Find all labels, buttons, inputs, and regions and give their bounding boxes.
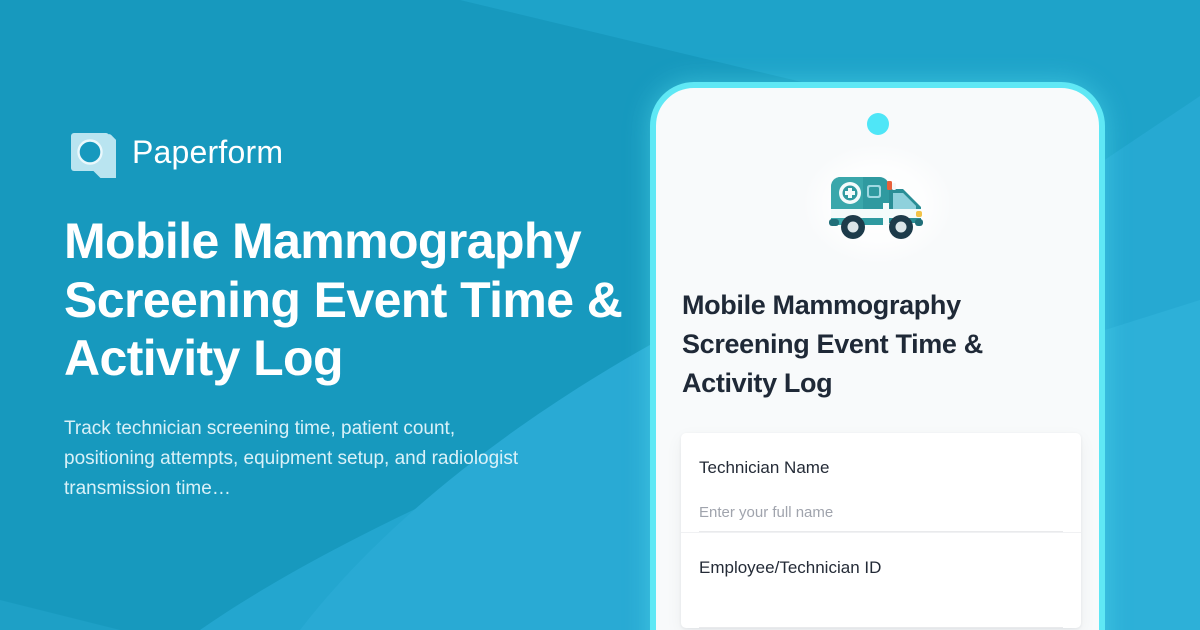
page-title: Mobile Mammography Screening Event Time … (64, 212, 624, 388)
form-card: Technician Name Enter your full name Emp… (681, 433, 1081, 629)
brand-name: Paperform (132, 136, 283, 168)
page-subtitle: Track technician screening time, patient… (64, 414, 544, 504)
form-header-emoji (678, 156, 1077, 252)
field-label: Technician Name (699, 457, 1063, 479)
ambulance-icon (823, 165, 933, 243)
paperform-star-logo-icon (64, 126, 116, 178)
form-title: Mobile Mammography Screening Event Time … (678, 286, 1077, 403)
phone-screen: Mobile Mammography Screening Event Time … (656, 88, 1099, 630)
form-field-employee-id[interactable]: Employee/Technician ID (681, 533, 1081, 628)
hero-column: Paperform Mobile Mammography Screening E… (64, 0, 664, 630)
employee-id-input[interactable] (699, 603, 1063, 628)
phone-mockup: Mobile Mammography Screening Event Time … (650, 82, 1105, 630)
field-label: Employee/Technician ID (699, 557, 1063, 579)
og-image-canvas: Paperform Mobile Mammography Screening E… (0, 0, 1200, 630)
form-field-technician-name[interactable]: Technician Name Enter your full name (681, 433, 1081, 534)
technician-name-input[interactable]: Enter your full name (699, 503, 1063, 533)
brand-lockup: Paperform (64, 126, 664, 178)
